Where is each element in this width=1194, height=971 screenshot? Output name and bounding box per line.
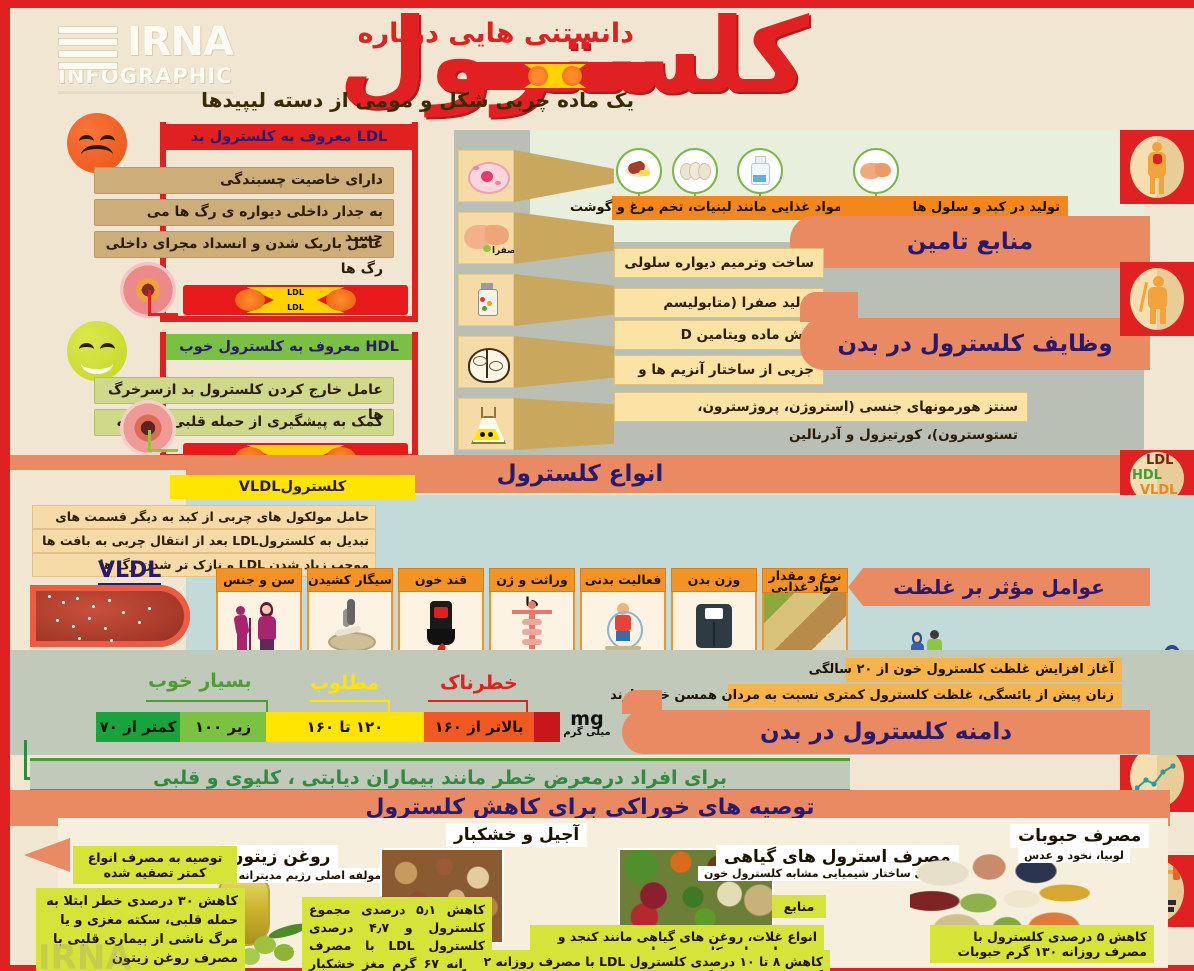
functions-banner: وظایف کلسترول در بدن — [800, 318, 1150, 370]
nuts-title: آجیل و خشکبار — [446, 823, 587, 847]
factor-label: وراثت و ژن ها — [489, 568, 575, 592]
factor-label: سیگار کشیدن — [307, 568, 393, 592]
range-banner-elbow — [622, 690, 662, 714]
ldl-vessel-diagram: LDL LDL — [183, 285, 408, 315]
scale-segment: ۱۲۰ تا ۱۶۰ — [266, 712, 424, 742]
sterols-chip-extra: کاهش ۸ تا ۱۰ درصدی کلسترول LDL با مصرف ر… — [466, 950, 830, 971]
range-note: زنان پیش از یائسگی، غلظت کلسترول کمتری ن… — [728, 684, 1122, 708]
scale-segment: بالاتر از ۱۶۰ — [424, 712, 534, 742]
factors-banner: عوامل مؤثر بر غلظت کلسترول — [848, 568, 1150, 606]
vldl-caption: کلسترولVLDL — [170, 475, 415, 499]
factor-tile: فعالیت بدنی — [580, 568, 666, 660]
nuts-chip-body: کاهش ۵٫۱ درصدی مجموع کلسترول و ۴٫۷ درصدی… — [302, 897, 492, 971]
factor-label: وزن بدن — [671, 568, 757, 592]
logo-bars-icon — [58, 26, 118, 64]
functions-banner-label: وظایف کلسترول در بدن — [837, 331, 1112, 357]
functions-banner-elbow — [800, 292, 858, 322]
legumes-subtitle: لوبیا، نخود و عدس — [1018, 848, 1130, 863]
badge-hdl: HDL — [1132, 468, 1162, 483]
scale-label-verygood: بسیار خوب — [148, 670, 252, 692]
milk-bottle-icon — [737, 148, 783, 194]
vldl-bullet: تبدیل به کلسترولLDL بعد از انتقال چربی ب… — [32, 529, 376, 553]
scale-unit-sub: میلی گرم — [563, 727, 611, 738]
vldl-vessel-illustration — [30, 585, 190, 647]
scale-segment: زیر ۱۰۰ — [180, 712, 266, 742]
side-tab-body — [1120, 130, 1194, 204]
factor-tile: وراثت و ژن ها — [489, 568, 575, 660]
leader-verygood — [146, 700, 268, 702]
function-label: ساخت وترمیم دیواره سلولی — [614, 248, 824, 278]
factor-label: فعالیت بدنی — [580, 568, 666, 592]
function-label: پیش ماده ویتامین D — [614, 320, 824, 350]
factor-tile: وزن بدن — [671, 568, 757, 660]
legumes-title: مصرف حبوبات — [1010, 824, 1149, 848]
bile-label: صفرا — [492, 246, 516, 256]
leader-desirable — [310, 700, 390, 702]
function-label: تولید صفرا (متابولیسم چربی ها) — [614, 288, 824, 318]
ldl-vessel-label-bottom: LDL — [287, 303, 304, 312]
scale-segment: کمتر از ۷۰ — [96, 712, 180, 742]
title-vessel-icon — [474, 62, 649, 90]
page-kicker: دانستنی هایی درباره — [358, 18, 634, 49]
cell-icon — [458, 150, 514, 202]
recommendations-arrow-icon — [24, 838, 70, 872]
meat-icon — [616, 148, 662, 194]
page-subtitle: یک ماده چربی شکل و مومی از دسته لیپیدها — [201, 88, 634, 112]
factor-tile: سن و جنس — [216, 568, 302, 660]
factor-tile: نوع و مقدار مواد غذایی — [762, 568, 848, 660]
function-label: سنتز هورمونهای جنسی (استروژن، پروژسترون،… — [614, 392, 1028, 422]
ldl-bullets: دارای خاصیت چسبندگی به جدار داخلی دیواره… — [94, 162, 394, 263]
range-banner-label: دامنه کلسترول در بدن — [760, 719, 1012, 745]
side-tab-worker — [1120, 262, 1194, 336]
range-note: آغاز افزایش غلظت کلسترول خون از ۲۰ سالگی — [846, 658, 1122, 682]
olive-oil-chip-top: توصیه به مصرف انواع کمتر تصفیه شده — [73, 846, 237, 884]
hdl-bullet: عامل خارج کردن کلسترول بد ازسرخرگ ها — [94, 377, 394, 404]
scale-segment-cap — [534, 712, 560, 742]
olive-oil-subtitle: مولفه اصلی رژیم مدیترانه ای — [215, 868, 387, 883]
liver-bile-icon: صفرا — [458, 212, 514, 264]
ldl-vessel-label-top: LDL — [287, 288, 304, 297]
range-footnote-box: برای افراد درمعرض خطر مانند بیماران دیاب… — [30, 758, 850, 792]
sources-banner: منابع تامین — [790, 216, 1150, 268]
factor-tile: سیگار کشیدن — [307, 568, 393, 660]
human-body-icon — [1130, 136, 1184, 198]
artery-connector — [148, 290, 178, 316]
ldl-bullet: عامل باریک شدن و انسداد مجرای داخلی رگ ه… — [94, 231, 394, 258]
hdl-artery-connector — [148, 430, 178, 452]
infographic-page: IRNA INFOGRAPHIC کلسترول دانستنی هایی در… — [0, 0, 1194, 971]
scale-label-desirable: مطلوب — [310, 672, 379, 694]
brain-icon — [458, 336, 514, 388]
vldl-label: VLDL — [98, 558, 161, 586]
watermark-text: IRNA — [38, 938, 218, 971]
liver-icon — [853, 148, 899, 194]
legumes-chip-body: کاهش ۵ درصدی کلسترول با مصرف روزانه ۱۳۰ … — [930, 925, 1154, 963]
worker-icon — [1130, 268, 1184, 330]
factor-label: نوع و مقدار مواد غذایی — [762, 568, 848, 593]
vldl-bullet: حامل مولکول های چربی از کبد به دیگر قسمت… — [32, 505, 376, 529]
scale-unit: mg میلی گرم — [563, 708, 611, 738]
eggs-icon — [672, 148, 718, 194]
factor-label: سن و جنس — [216, 568, 302, 592]
sterols-chip-sources: منابع — [772, 895, 826, 918]
sources-banner-label: منابع تامین — [907, 229, 1033, 255]
irna-watermark: IRNA — [38, 938, 218, 971]
ldl-bullet: دارای خاصیت چسبندگی — [94, 167, 394, 194]
leader-danger — [428, 700, 528, 702]
scale-label-danger: خطرناک — [440, 672, 518, 694]
factor-tile: قند خون — [398, 568, 484, 660]
flask-icon — [458, 398, 514, 450]
function-label: جزیی از ساختار آنزیم ها و سیستم عصبی — [614, 355, 824, 385]
ldl-bullet: به جدار داخلی دیواره ی رگ ها می چسبد — [94, 199, 394, 226]
olive-oil-title: روغن زیتون — [221, 845, 338, 869]
function-wedge — [514, 398, 614, 450]
badge-ldl: LDL — [1146, 453, 1173, 468]
vitamin-bottle-icon — [458, 274, 514, 326]
factor-label: قند خون — [398, 568, 484, 592]
range-banner: دامنه کلسترول در بدن — [622, 710, 1150, 754]
